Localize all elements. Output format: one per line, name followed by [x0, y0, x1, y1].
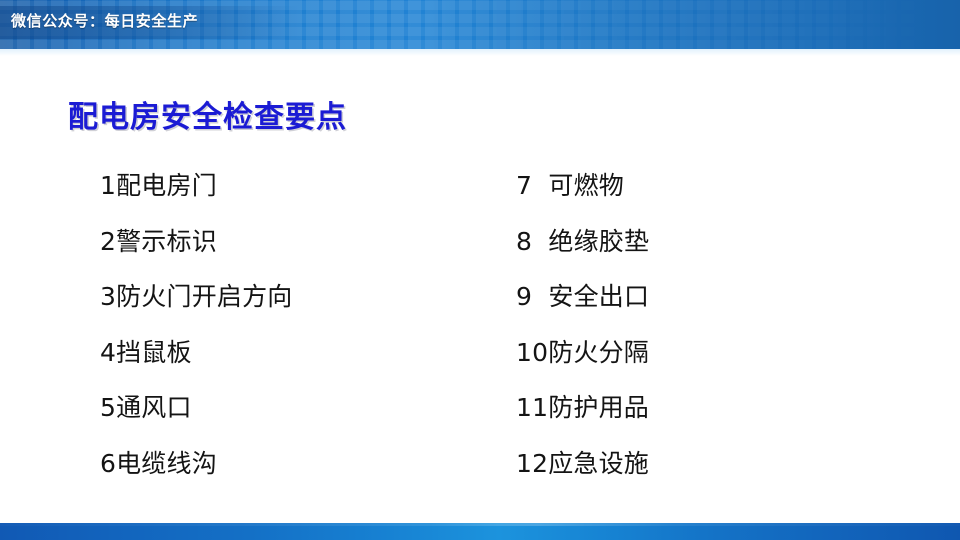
list-item: 6电缆线沟: [100, 436, 480, 492]
list-item: 4挡鼠板: [100, 325, 480, 381]
list-item: 7 可燃物: [516, 158, 896, 214]
footer-bar: [0, 523, 960, 540]
list-item: 2警示标识: [100, 214, 480, 270]
list-item: 3防火门开启方向: [100, 269, 480, 325]
checklist-column-left: 1配电房门 2警示标识 3防火门开启方向 4挡鼠板 5通风口 6电缆线沟: [100, 158, 480, 491]
list-item: 8 绝缘胶垫: [516, 214, 896, 270]
list-item: 10防火分隔: [516, 325, 896, 381]
header-underglow: [0, 49, 960, 56]
list-item: 11防护用品: [516, 380, 896, 436]
list-item: 5通风口: [100, 380, 480, 436]
header-banner: 微信公众号：每日安全生产: [0, 0, 960, 49]
list-item: 1配电房门: [100, 158, 480, 214]
checklist: 1配电房门 2警示标识 3防火门开启方向 4挡鼠板 5通风口 6电缆线沟 7 可…: [0, 158, 960, 508]
slide-root: 微信公众号：每日安全生产 配电房安全检查要点 1配电房门 2警示标识 3防火门开…: [0, 0, 960, 540]
list-item: 9 安全出口: [516, 269, 896, 325]
header-caption-text: 微信公众号：每日安全生产: [11, 10, 198, 31]
list-item: 12应急设施: [516, 436, 896, 492]
footer-highlight: [0, 523, 960, 526]
checklist-column-right: 7 可燃物 8 绝缘胶垫 9 安全出口 10防火分隔 11防护用品 12应急设施: [516, 158, 896, 491]
page-title: 配电房安全检查要点: [68, 92, 347, 136]
